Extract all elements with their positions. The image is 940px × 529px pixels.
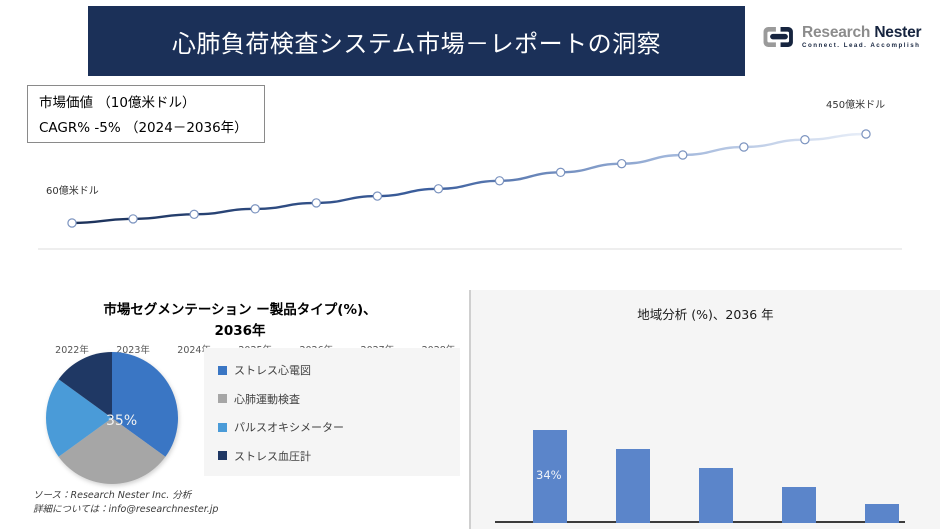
logo-tagline: Connect. Lead. Accomplish [802, 43, 921, 49]
legend-swatch-icon [218, 423, 227, 432]
pie-chart-graphic: 35% [38, 348, 190, 488]
logo-name-nester: Nester [874, 24, 921, 41]
pie-legend-item[interactable]: ストレス心電図 [218, 362, 450, 378]
line-data-point [679, 151, 687, 159]
line-data-point [862, 130, 870, 138]
bar-column [865, 504, 899, 523]
source-note: ソース：Research Nester Inc. 分析 詳細については：info… [33, 489, 218, 517]
bar-data-label: 34% [536, 468, 562, 482]
source-line-1: ソース：Research Nester Inc. 分析 [33, 489, 218, 503]
line-chart-plot [0, 86, 940, 266]
pie-chart-legend: ストレス心電図心肺運動検査パルスオキシメーターストレス血圧計 [204, 348, 460, 476]
bar-column [699, 468, 733, 523]
pie-legend-label: 心肺運動検査 [234, 391, 300, 407]
market-value-line-chart: 60億米ドル 450億米ドル 2022年2023年2024年2025年2026年… [0, 86, 940, 281]
line-data-point [312, 199, 320, 207]
pie-legend-label: ストレス心電図 [234, 362, 311, 378]
line-data-point [434, 185, 442, 193]
legend-swatch-icon [218, 394, 227, 403]
infographic-page: 心肺負荷検査システム市場－レポートの洞察 Research Nester Con… [0, 0, 940, 529]
legend-swatch-icon [218, 451, 227, 460]
bar-column [782, 487, 816, 523]
pie-data-label: 35% [106, 413, 137, 429]
logo-wordmark: Research Nester Connect. Lead. Accomplis… [802, 25, 921, 50]
pie-legend-item[interactable]: 心肺運動検査 [218, 391, 450, 407]
bar-column [616, 449, 650, 523]
legend-swatch-icon [218, 366, 227, 375]
line-data-point [251, 205, 259, 213]
chain-link-icon [762, 24, 796, 50]
line-end-value-label: 450億米ドル [826, 96, 885, 111]
research-nester-logo: Research Nester Connect. Lead. Accomplis… [762, 16, 934, 58]
pie-legend-label: ストレス血圧計 [234, 448, 311, 464]
line-start-value-label: 60億米ドル [46, 182, 99, 197]
header-banner: 心肺負荷検査システム市場－レポートの洞察 [88, 6, 745, 76]
line-data-point [129, 215, 137, 223]
line-data-point [618, 160, 626, 168]
pie-legend-label: パルスオキシメーター [234, 419, 344, 435]
line-data-point [495, 177, 503, 185]
pie-chart-title: 市場セグメンテーション ー製品タイプ(%)、 2036年 [20, 292, 460, 342]
line-data-point [373, 192, 381, 200]
line-data-point [190, 210, 198, 218]
line-data-point [740, 143, 748, 151]
page-title: 心肺負荷検査システム市場－レポートの洞察 [172, 24, 661, 59]
pie-title-line2: 2036年 [38, 321, 442, 342]
line-data-point [557, 168, 565, 176]
line-data-point [801, 136, 809, 144]
pie-legend-item[interactable]: ストレス血圧計 [218, 448, 450, 464]
source-line-2: 詳細については：info@researchnester.jp [33, 503, 218, 517]
regional-bar-panel: 地域分析 (%)、2036 年 34%北米ヨーロッパアジア太平洋…ラテンアメリカ… [469, 290, 940, 529]
pie-legend-item[interactable]: パルスオキシメーター [218, 419, 450, 435]
bar-chart-title: 地域分析 (%)、2036 年 [471, 290, 940, 323]
pie-title-line1: 市場セグメンテーション ー製品タイプ(%)、 [38, 300, 442, 321]
logo-name-research: Research [802, 24, 870, 41]
line-data-point [68, 219, 76, 227]
bar-chart-plot: 34%北米ヨーロッパアジア太平洋…ラテンアメリカ中東とアフリカ [471, 323, 940, 523]
